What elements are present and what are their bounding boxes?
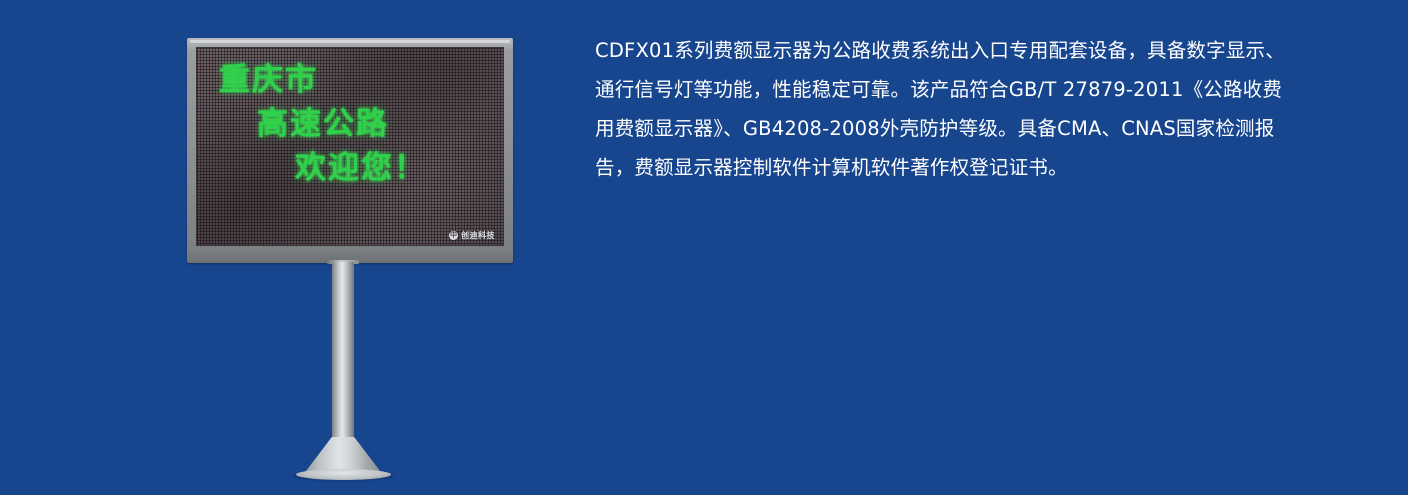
brand-name-label: 创迪科技 [461, 231, 495, 240]
led-message-line-3: 欢迎您！ [197, 146, 493, 190]
base-plate [296, 469, 391, 480]
led-message-line-2: 高速公路 [197, 102, 493, 146]
led-message-line-1: 重庆市 [197, 58, 493, 102]
mounting-pole [332, 262, 354, 460]
product-description-paragraph: CDFX01系列费额显示器为公路收费系统出入口专用配套设备，具备数字显示、通行信… [595, 31, 1295, 187]
brand-watermark: 中 创迪科技 [449, 231, 495, 240]
product-image: 重庆市 高速公路 欢迎您！ 中 创迪科技 [0, 0, 570, 495]
brand-logo-icon: 中 [449, 231, 458, 240]
description-panel: CDFX01系列费额显示器为公路收费系统出入口专用配套设备，具备数字显示、通行信… [595, 31, 1295, 187]
led-sign-cabinet: 重庆市 高速公路 欢迎您！ 中 创迪科技 [187, 38, 513, 263]
product-detail-page: 重庆市 高速公路 欢迎您！ 中 创迪科技 CDFX01系列费额显示器为公路收费系… [0, 0, 1408, 495]
led-matrix-screen: 重庆市 高速公路 欢迎您！ 中 创迪科技 [196, 47, 504, 246]
led-message-text: 重庆市 高速公路 欢迎您！ [197, 58, 493, 190]
